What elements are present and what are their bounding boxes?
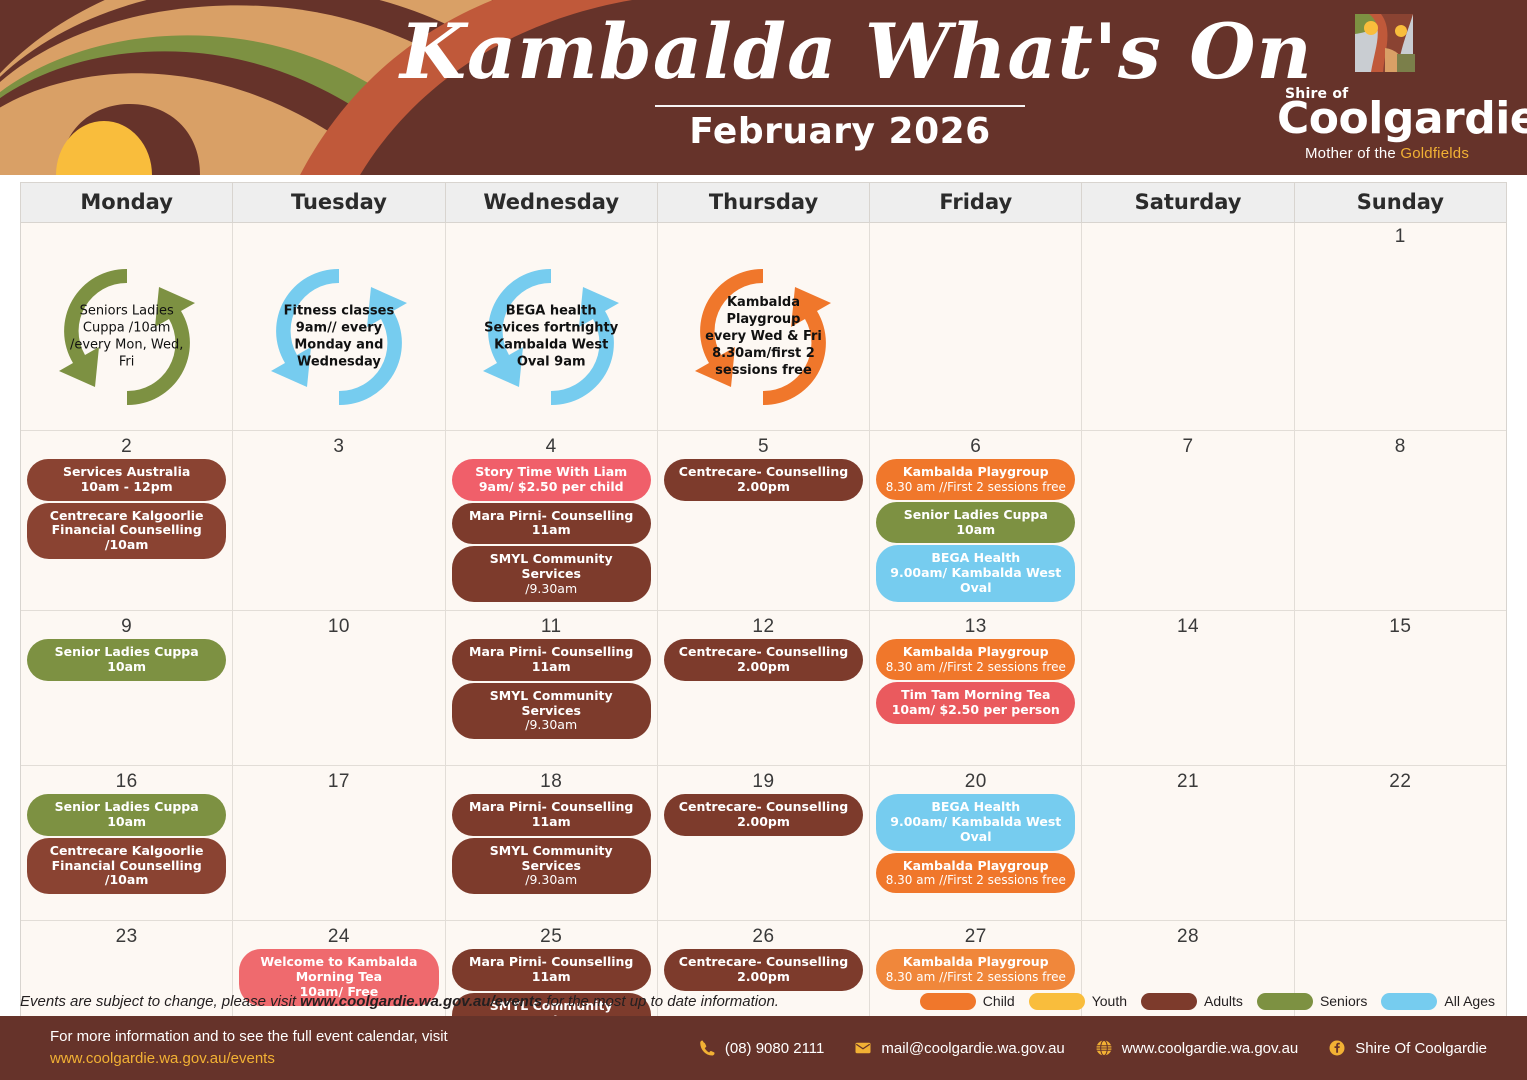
event-title: Centrecare Kalgoorlie [35,509,218,524]
day-cell-13[interactable]: 13Kambalda Playgroup8.30 am //First 2 se… [870,611,1082,766]
recurring-event-line: Playgroup [683,311,843,328]
day-cell-20[interactable]: 20BEGA Health9.00am/ Kambalda West OvalK… [870,766,1082,921]
event-title: Mara Pirni- Counselling [460,509,643,524]
event-detail: 8.30 am //First 2 sessions free [884,660,1067,674]
legend-label: Adults [1204,993,1243,1009]
event-title: Centrecare- Counselling [672,800,855,815]
event-title: BEGA Health [884,800,1067,815]
event-pill[interactable]: Senior Ladies Cuppa10am [27,639,226,681]
day-cell-4[interactable]: 4Story Time With Liam9am/ $2.50 per chil… [446,431,658,611]
day-cell-7[interactable]: 7 [1082,431,1294,611]
event-pill[interactable]: Kambalda Playgroup8.30 am //First 2 sess… [876,853,1075,894]
day-cell-2[interactable]: 2Services Australia10am - 12pmCentrecare… [21,431,233,611]
recurring-event-monday[interactable]: Seniors LadiesCuppa /10am/every Mon, Wed… [27,249,226,424]
logo-tagline-prefix: Mother of the [1305,145,1400,162]
day-number: 15 [1301,615,1500,639]
week-row: Seniors LadiesCuppa /10am/every Mon, Wed… [21,223,1506,431]
day-number: 27 [876,925,1075,949]
day-number: 16 [27,770,226,794]
day-number [452,225,651,249]
legend-label: Child [983,993,1015,1009]
globe-icon [1095,1039,1113,1057]
event-detail: 9.00am/ Kambalda West Oval [884,566,1067,596]
day-header-friday: Friday [870,183,1082,223]
event-title: SMYL Community Services [460,552,643,582]
disclaimer-before: Events are subject to change, please vis… [20,993,300,1010]
page-footer: For more information and to see the full… [0,1016,1527,1080]
recurring-event-text: Fitness classes9am// everyMonday andWedn… [259,302,419,371]
disclaimer-text: Events are subject to change, please vis… [20,993,779,1010]
event-pill[interactable]: Mara Pirni- Counselling11am [452,639,651,681]
day-number: 18 [452,770,651,794]
recurring-event-line: Oval 9am [471,354,631,371]
day-number: 24 [239,925,438,949]
day-number: 21 [1088,770,1287,794]
event-title: Centrecare- Counselling [672,645,855,660]
logo-tagline-highlight: Goldfields [1400,145,1469,162]
recurring-event-line: Monday and [259,337,419,354]
day-number: 26 [664,925,863,949]
day-number: 11 [452,615,651,639]
day-number [876,225,1075,249]
legend-label: All Ages [1444,993,1495,1009]
day-number [1088,225,1287,249]
event-pill[interactable]: Centrecare- Counselling2.00pm [664,794,863,836]
disclaimer-after: for the most up to date information. [542,993,779,1010]
day-number: 25 [452,925,651,949]
day-of-week-header-row: MondayTuesdayWednesdayThursdayFridaySatu… [21,183,1506,223]
day-number: 14 [1088,615,1287,639]
event-detail: /9.30am [460,718,643,733]
day-cell-empty[interactable] [1082,223,1294,431]
day-header-monday: Monday [21,183,233,223]
recurring-event-line: Fri [47,354,207,371]
day-number: 2 [27,435,226,459]
event-pill[interactable]: SMYL Community Services/9.30am [452,838,651,894]
event-pill[interactable]: Senior Ladies Cuppa10am [27,794,226,836]
day-number: 23 [27,925,226,949]
footer-info-line: For more information and to see the full… [50,1026,448,1048]
legend-label: Seniors [1320,993,1367,1009]
legend-row: Events are subject to change, please vis… [20,985,1507,1017]
day-cell-9[interactable]: 9Senior Ladies Cuppa10am [21,611,233,766]
recurring-event-line: every Wed & Fri [683,328,843,345]
recurring-event-text: KambaldaPlaygroupevery Wed & Fri8.30am/f… [683,294,843,380]
recurring-event-line: /every Mon, Wed, [47,337,207,354]
event-detail: 10am [35,815,218,830]
footer-contact-mail[interactable]: mail@coolgardie.wa.gov.au [854,1039,1064,1057]
event-detail: 8.30 am //First 2 sessions free [884,970,1067,984]
day-header-thursday: Thursday [658,183,870,223]
header-title-block: Kambalda What's On February 2026 [400,6,1280,152]
event-pill[interactable]: BEGA Health9.00am/ Kambalda West Oval [876,545,1075,601]
event-detail: 2.00pm [672,970,855,985]
recurring-event-text: Seniors LadiesCuppa /10am/every Mon, Wed… [47,302,207,371]
recurring-event-line: Seniors Ladies [47,302,207,319]
facebook-icon [1328,1039,1346,1057]
recurring-event-line: 8.30am/first 2 [683,345,843,362]
event-detail: 9am/ $2.50 per child [460,480,643,495]
event-detail: 11am [460,660,643,675]
recurring-event-tuesday[interactable]: Fitness classes9am// everyMonday andWedn… [239,249,438,424]
week-row: 9Senior Ladies Cuppa10am1011Mara Pirni- … [21,611,1506,766]
day-number [239,225,438,249]
event-title: SMYL Community Services [460,689,643,719]
footer-contact-text: www.coolgardie.wa.gov.au [1122,1040,1298,1057]
day-number: 7 [1088,435,1287,459]
day-cell-empty[interactable]: BEGA healthSevices fortnightyKambalda We… [446,223,658,431]
footer-contact-text: mail@coolgardie.wa.gov.au [881,1040,1064,1057]
day-number: 20 [876,770,1075,794]
event-pill[interactable]: Kambalda Playgroup8.30 am //First 2 sess… [876,459,1075,500]
event-title: Centrecare Kalgoorlie [35,844,218,859]
event-detail: 11am [460,815,643,830]
event-pill[interactable]: SMYL Community Services/9.30am [452,546,651,602]
recurring-event-text: BEGA healthSevices fortnightyKambalda We… [471,302,631,371]
day-number: 5 [664,435,863,459]
legend-swatch [1381,993,1437,1010]
event-detail: 11am [460,523,643,538]
day-number: 12 [664,615,863,639]
event-title: Senior Ladies Cuppa [884,508,1067,523]
event-detail: 9.00am/ Kambalda West Oval [884,815,1067,845]
day-header-tuesday: Tuesday [233,183,445,223]
day-number: 10 [239,615,438,639]
event-title: Kambalda Playgroup [884,955,1067,970]
event-title: BEGA Health [884,551,1067,566]
day-number: 4 [452,435,651,459]
legend-swatch [1029,993,1085,1010]
footer-contact-globe[interactable]: www.coolgardie.wa.gov.au [1095,1039,1298,1057]
day-cell-21[interactable]: 21 [1082,766,1294,921]
legend-item-adults: Adults [1141,993,1243,1010]
day-cell-15[interactable]: 15 [1295,611,1506,766]
calendar-grid: MondayTuesdayWednesdayThursdayFridaySatu… [20,182,1507,1072]
recurring-event-line: Kambalda [683,294,843,311]
event-pill[interactable]: Centrecare- Counselling2.00pm [664,639,863,681]
recurring-event-line: Kambalda West [471,337,631,354]
footer-contact-text: Shire Of Coolgardie [1355,1040,1487,1057]
day-number: 13 [876,615,1075,639]
event-detail: 10am - 12pm [35,480,218,495]
event-pill[interactable]: Tim Tam Morning Tea10am/ $2.50 per perso… [876,682,1075,724]
recurring-event-thursday[interactable]: KambaldaPlaygroupevery Wed & Fri8.30am/f… [664,249,863,424]
legend-label: Youth [1092,993,1127,1009]
day-cell-18[interactable]: 18Mara Pirni- Counselling11amSMYL Commun… [446,766,658,921]
event-title: Story Time With Liam [460,465,643,480]
day-number [27,225,226,249]
legend-item-youth: Youth [1029,993,1127,1010]
day-cell-16[interactable]: 16Senior Ladies Cuppa10amCentrecare Kalg… [21,766,233,921]
event-detail: 2.00pm [672,480,855,495]
page-header: Kambalda What's On February 2026 Shire o… [0,0,1527,175]
event-title: Senior Ladies Cuppa [35,800,218,815]
logo-tagline: Mother of the Goldfields [1277,145,1497,162]
logo-name-text: Coolgardie [1277,96,1497,142]
event-pill[interactable]: Centrecare KalgoorlieFinancial Counselli… [27,838,226,894]
day-cell-22[interactable]: 22 [1295,766,1506,921]
coolgardie-logo-mark [1345,14,1429,84]
day-number: 3 [239,435,438,459]
legend-swatch [1257,993,1313,1010]
mail-icon [854,1039,872,1057]
event-pill[interactable]: Senior Ladies Cuppa10am [876,502,1075,544]
event-pill[interactable]: SMYL Community Services/9.30am [452,683,651,739]
event-pill[interactable]: Story Time With Liam9am/ $2.50 per child [452,459,651,501]
day-cell-10[interactable]: 10 [233,611,445,766]
disclaimer-link[interactable]: www.coolgardie.wa.gov.au/events [300,993,542,1010]
event-title: Centrecare- Counselling [672,955,855,970]
day-cell-11[interactable]: 11Mara Pirni- Counselling11amSMYL Commun… [446,611,658,766]
recurring-event-line: Wednesday [259,354,419,371]
day-cell-3[interactable]: 3 [233,431,445,611]
day-number: 22 [1301,770,1500,794]
month-label: February 2026 [400,111,1280,152]
day-cell-empty[interactable]: Seniors LadiesCuppa /10am/every Mon, Wed… [21,223,233,431]
event-pill[interactable]: Kambalda Playgroup8.30 am //First 2 sess… [876,639,1075,680]
recurring-event-line: sessions free [683,362,843,379]
phone-icon [698,1039,716,1057]
event-title: Mara Pirni- Counselling [460,800,643,815]
day-number: 17 [239,770,438,794]
day-cell-1[interactable]: 1 [1295,223,1506,431]
event-title: Kambalda Playgroup [884,465,1067,480]
event-pill[interactable]: Centrecare KalgoorlieFinancial Counselli… [27,503,226,559]
footer-contact-text: (08) 9080 2111 [725,1040,825,1057]
week-row: 2Services Australia10am - 12pmCentrecare… [21,431,1506,611]
whats-on-calendar-page: Kambalda What's On February 2026 Shire o… [0,0,1527,1080]
day-number: 1 [1301,225,1500,249]
recurring-event-line: Cuppa /10am [47,319,207,336]
legend-item-seniors: Seniors [1257,993,1367,1010]
legend-item-all-ages: All Ages [1381,993,1495,1010]
title-divider [655,105,1025,107]
day-header-saturday: Saturday [1082,183,1294,223]
day-cell-5[interactable]: 5Centrecare- Counselling2.00pm [658,431,870,611]
legend-swatch [1141,993,1197,1010]
day-cell-empty[interactable]: KambaldaPlaygroupevery Wed & Fri8.30am/f… [658,223,870,431]
event-detail: 8.30 am //First 2 sessions free [884,873,1067,887]
shire-logo: Shire of Coolgardie Mother of the Goldfi… [1277,14,1497,162]
event-title: Senior Ladies Cuppa [35,645,218,660]
event-detail: 10am [884,523,1067,538]
event-title: Welcome to Kambalda Morning Tea [247,955,430,985]
event-title: Services Australia [35,465,218,480]
day-number: 28 [1088,925,1287,949]
day-number: 19 [664,770,863,794]
event-detail: 10am [35,660,218,675]
event-title: Tim Tam Morning Tea [884,688,1067,703]
day-cell-6[interactable]: 6Kambalda Playgroup8.30 am //First 2 ses… [870,431,1082,611]
event-detail: 2.00pm [672,660,855,675]
event-detail: 11am [460,970,643,985]
event-detail: Financial Counselling /10am [35,523,218,553]
recurring-event-wednesday[interactable]: BEGA healthSevices fortnightyKambalda We… [452,249,651,424]
footer-info-link[interactable]: www.coolgardie.wa.gov.au/events [50,1048,448,1070]
event-title: Kambalda Playgroup [884,645,1067,660]
event-pill[interactable]: Services Australia10am - 12pm [27,459,226,501]
day-number: 6 [876,435,1075,459]
event-detail: 8.30 am //First 2 sessions free [884,480,1067,494]
event-title: SMYL Community Services [460,844,643,874]
event-title: Mara Pirni- Counselling [460,955,643,970]
category-legend: ChildYouthAdultsSeniorsAll Ages [920,993,1507,1010]
day-cell-14[interactable]: 14 [1082,611,1294,766]
day-header-sunday: Sunday [1295,183,1506,223]
event-detail: /9.30am [460,582,643,597]
week-row: 16Senior Ladies Cuppa10amCentrecare Kalg… [21,766,1506,921]
footer-contacts: (08) 9080 2111mail@coolgardie.wa.gov.auw… [698,1039,1487,1057]
legend-item-child: Child [920,993,1015,1010]
event-pill[interactable]: Centrecare- Counselling2.00pm [664,459,863,501]
day-cell-17[interactable]: 17 [233,766,445,921]
day-cell-12[interactable]: 12Centrecare- Counselling2.00pm [658,611,870,766]
footer-contact-facebook[interactable]: Shire Of Coolgardie [1328,1039,1487,1057]
footer-info-block: For more information and to see the full… [50,1026,448,1070]
recurring-event-line: Fitness classes [259,302,419,319]
footer-contact-phone[interactable]: (08) 9080 2111 [698,1039,825,1057]
page-title: Kambalda What's On [400,6,1280,99]
day-cell-empty[interactable] [870,223,1082,431]
recurring-event-line: Sevices fortnighty [471,319,631,336]
day-number: 8 [1301,435,1500,459]
event-title: Centrecare- Counselling [672,465,855,480]
event-pill[interactable]: BEGA Health9.00am/ Kambalda West Oval [876,794,1075,850]
event-title: Mara Pirni- Counselling [460,645,643,660]
event-pill[interactable]: Mara Pirni- Counselling11am [452,503,651,545]
event-detail: 2.00pm [672,815,855,830]
day-header-wednesday: Wednesday [446,183,658,223]
day-number: 9 [27,615,226,639]
recurring-event-line: BEGA health [471,302,631,319]
event-detail: Financial Counselling /10am [35,859,218,889]
event-pill[interactable]: Mara Pirni- Counselling11am [452,794,651,836]
day-number [664,225,863,249]
day-cell-19[interactable]: 19Centrecare- Counselling2.00pm [658,766,870,921]
day-number [1301,925,1500,949]
event-title: Kambalda Playgroup [884,859,1067,874]
day-cell-empty[interactable]: Fitness classes9am// everyMonday andWedn… [233,223,445,431]
day-cell-8[interactable]: 8 [1295,431,1506,611]
event-detail: 10am/ $2.50 per person [884,703,1067,718]
recurring-event-line: 9am// every [259,319,419,336]
legend-swatch [920,993,976,1010]
event-detail: /9.30am [460,873,643,888]
